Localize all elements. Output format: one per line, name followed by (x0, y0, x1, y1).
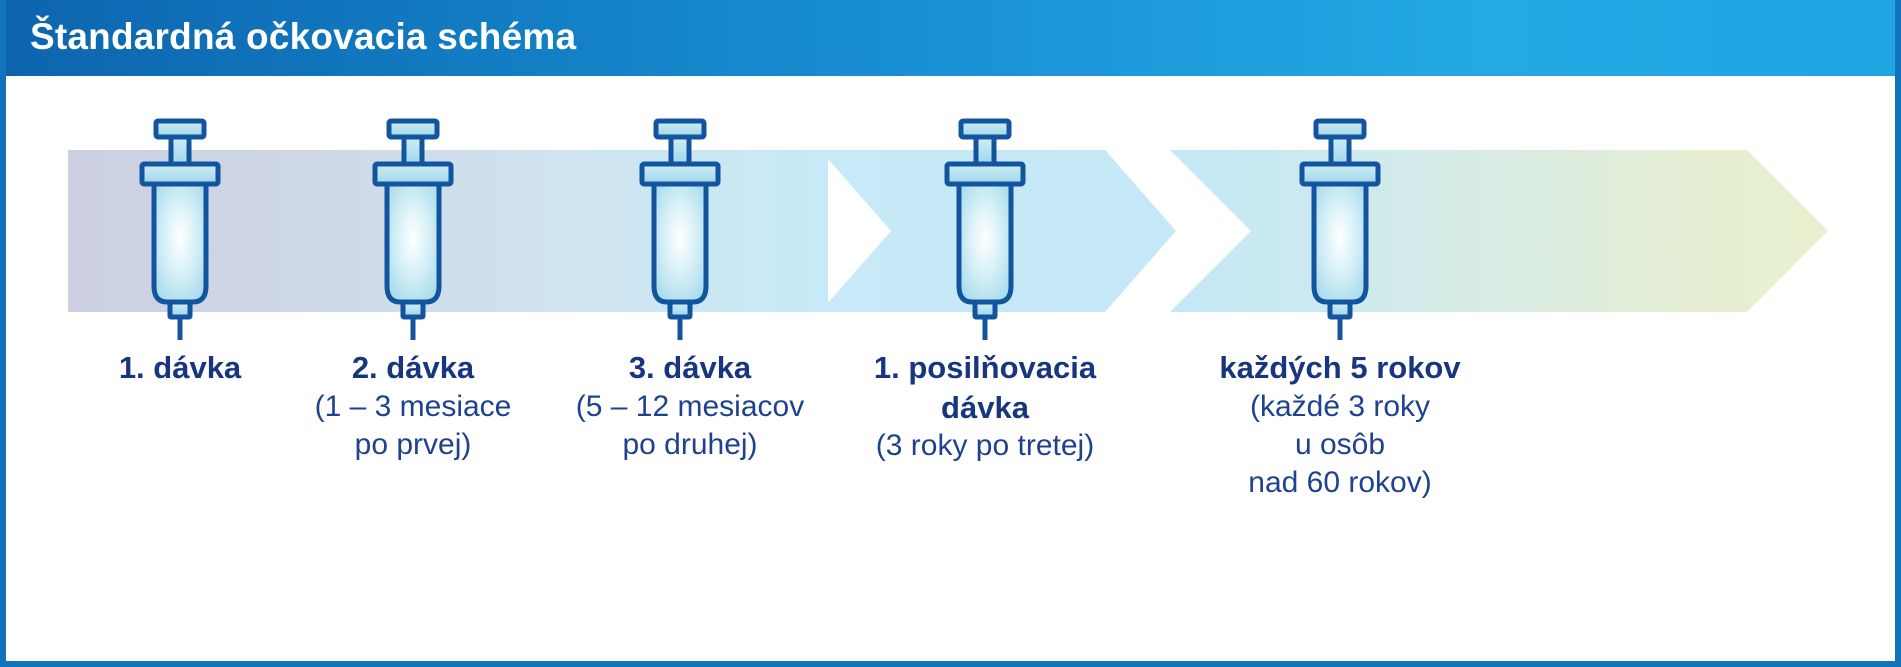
step-title: každých 5 rokov (1195, 348, 1485, 388)
step-detail-line: po druhej) (545, 426, 835, 464)
step-detail-line: u osôb (1195, 426, 1485, 464)
step-detail-line: nad 60 rokov) (1195, 464, 1485, 502)
step-label-2: 2. dávka (1 – 3 mesiace po prvej) (283, 348, 543, 464)
step-detail-line: (každé 3 roky (1195, 388, 1485, 426)
vaccination-schedule-infographic: Štandardná očkovacia schéma (0, 0, 1901, 667)
syringe-icon (930, 118, 1040, 340)
syringe-icon (358, 118, 468, 340)
syringe-icon (625, 118, 735, 340)
step-title: 1. posilňovacia dávka (840, 348, 1130, 427)
step-detail-line: (1 – 3 mesiace (283, 388, 543, 426)
step-title: 1. dávka (60, 348, 300, 388)
band-segment-revaccination (1170, 150, 1828, 312)
step-detail-line: (5 – 12 mesiacov (545, 388, 835, 426)
step-label-5: každých 5 rokov (každé 3 roky u osôb nad… (1195, 348, 1485, 503)
step-detail-line: po prvej) (283, 426, 543, 464)
page-title: Štandardná očkovacia schéma (30, 16, 576, 58)
step-detail-line: (3 roky po tretej) (840, 427, 1130, 465)
syringe-icon (125, 118, 235, 340)
step-title: 2. dávka (283, 348, 543, 388)
step-label-4: 1. posilňovacia dávka (3 roky po tretej) (840, 348, 1130, 466)
syringe-icon (1285, 118, 1395, 340)
step-label-3: 3. dávka (5 – 12 mesiacov po druhej) (545, 348, 835, 464)
step-label-1: 1. dávka (60, 348, 300, 388)
step-title: 3. dávka (545, 348, 835, 388)
header-bar: Štandardná očkovacia schéma (0, 0, 1901, 76)
